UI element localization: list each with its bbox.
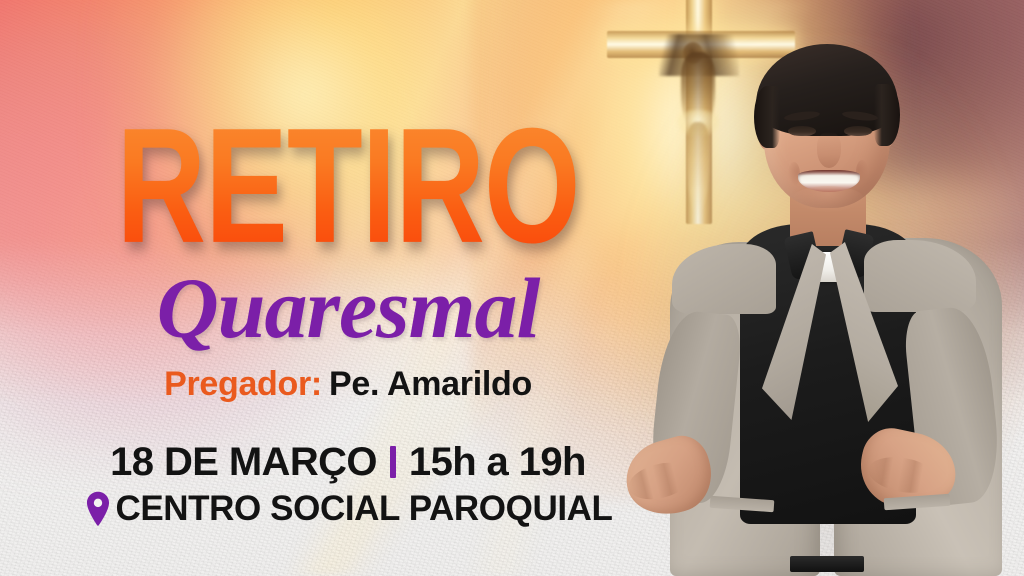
event-title-main: RETIRO [87,108,610,265]
preacher-label: Pregador: [164,365,322,403]
event-poster: RETIRO Quaresmal Pregador:Pe. Amarildo 1… [0,0,1024,576]
poster-text-block: RETIRO Quaresmal Pregador:Pe. Amarildo 1… [70,108,626,529]
background-maroon-corner [696,0,1024,184]
preacher-name: Pe. Amarildo [329,365,532,403]
map-pin-icon [83,491,113,527]
event-location: CENTRO SOCIAL PAROQUIAL [115,489,612,529]
event-title-script: Quaresmal [70,265,626,351]
event-date: 18 DE MARÇO [110,440,377,485]
event-datetime-line: 18 DE MARÇO 15h a 19h [70,440,626,485]
event-time: 15h a 19h [409,440,586,485]
event-location-line: CENTRO SOCIAL PAROQUIAL [70,489,626,529]
datetime-separator-bar [390,446,396,478]
preacher-line: Pregador:Pe. Amarildo [70,365,626,404]
